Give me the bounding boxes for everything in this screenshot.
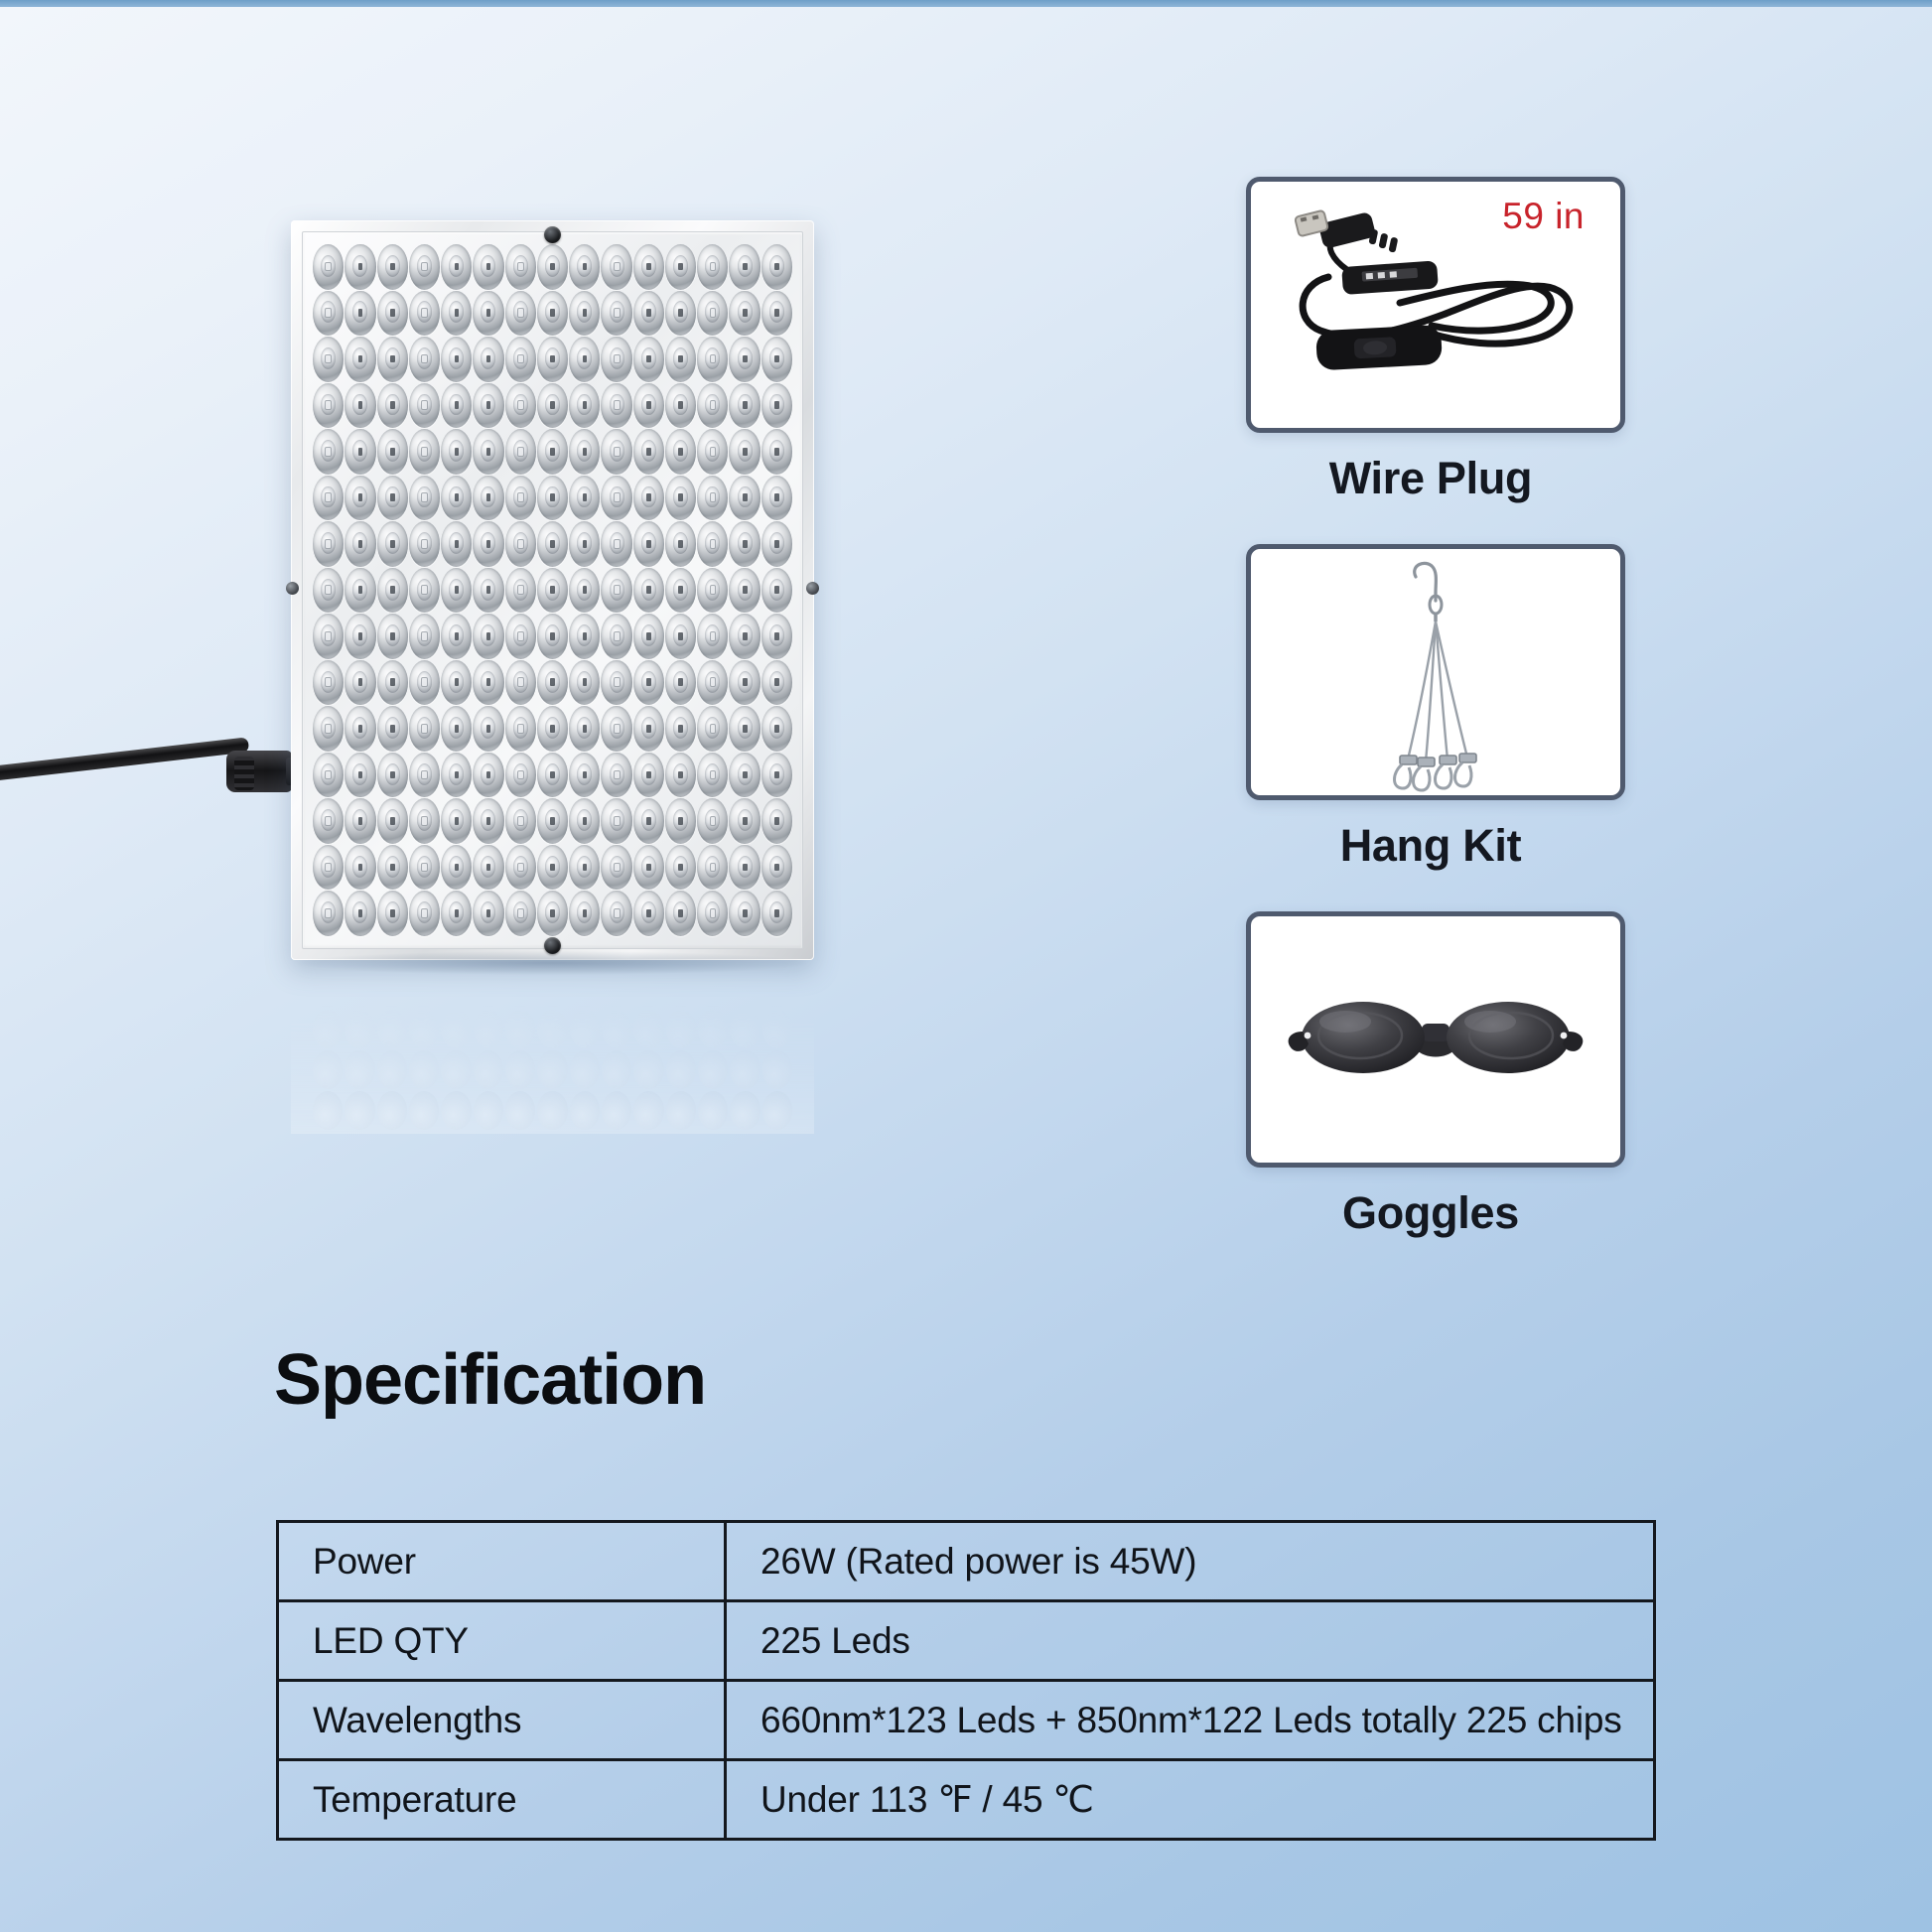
led-cell	[569, 244, 600, 290]
led-cell	[697, 337, 728, 382]
led-cell	[697, 291, 728, 337]
led-cell	[729, 429, 759, 475]
led-cell	[665, 660, 696, 706]
led-cell	[441, 845, 472, 891]
led-cell	[409, 614, 440, 659]
led-cell	[665, 798, 696, 844]
led-cell	[377, 337, 408, 382]
led-cell	[633, 337, 664, 382]
led-cell	[505, 521, 536, 567]
led-cell	[761, 706, 792, 752]
led-cell	[377, 660, 408, 706]
led-cell	[313, 891, 344, 936]
led-reflection-cell	[345, 1010, 374, 1048]
led-cell	[601, 753, 631, 798]
led-cell	[537, 244, 568, 290]
led-cell	[505, 383, 536, 429]
led-reflection-cell	[730, 1091, 759, 1130]
led-cell	[377, 291, 408, 337]
led-cell	[377, 476, 408, 521]
led-cell	[761, 845, 792, 891]
led-cell	[601, 521, 631, 567]
led-reflection-cell	[441, 969, 471, 1008]
side-screw-left-icon	[286, 582, 299, 595]
led-cell	[473, 429, 503, 475]
led-cell	[409, 429, 440, 475]
led-cell	[441, 244, 472, 290]
led-cell	[409, 291, 440, 337]
led-cell	[729, 753, 759, 798]
led-cell	[345, 291, 375, 337]
led-cell	[633, 521, 664, 567]
led-cell	[537, 521, 568, 567]
led-cell	[729, 568, 759, 614]
led-cell	[665, 614, 696, 659]
led-cell	[665, 568, 696, 614]
led-cell	[697, 753, 728, 798]
led-cell	[569, 798, 600, 844]
led-cell	[473, 798, 503, 844]
led-cell	[345, 614, 375, 659]
led-cell	[441, 660, 472, 706]
led-reflection-cell	[602, 1010, 631, 1048]
page-title: Specification	[274, 1339, 706, 1421]
table-row: Temperature Under 113 ℉ / 45 ℃	[278, 1760, 1655, 1840]
table-row: Wavelengths 660nm*123 Leds + 850nm*122 L…	[278, 1681, 1655, 1760]
led-cell	[377, 798, 408, 844]
led-cell	[601, 429, 631, 475]
led-reflection-cell	[666, 1010, 696, 1048]
led-cell	[441, 568, 472, 614]
led-cell	[729, 244, 759, 290]
led-cell	[633, 845, 664, 891]
led-cell	[601, 568, 631, 614]
led-cell	[409, 244, 440, 290]
spec-value: 225 Leds	[726, 1601, 1655, 1681]
led-cell	[665, 706, 696, 752]
led-cell	[729, 291, 759, 337]
led-cell	[313, 798, 344, 844]
led-cell	[409, 706, 440, 752]
led-cell	[761, 753, 792, 798]
led-cell	[569, 476, 600, 521]
led-reflection-cell	[409, 1091, 439, 1130]
led-cell	[409, 845, 440, 891]
led-cell	[473, 845, 503, 891]
led-cell	[313, 476, 344, 521]
led-cell	[409, 660, 440, 706]
led-cell	[409, 521, 440, 567]
led-cell	[441, 614, 472, 659]
led-cell	[377, 429, 408, 475]
accessory-caption-hang-kit: Hang Kit	[1246, 820, 1615, 872]
led-cell	[473, 660, 503, 706]
led-cell	[761, 798, 792, 844]
led-reflection-cell	[698, 1050, 728, 1089]
led-cell	[505, 291, 536, 337]
spec-label: Wavelengths	[278, 1681, 726, 1760]
led-cell	[665, 521, 696, 567]
led-cell	[345, 753, 375, 798]
led-reflection-cell	[698, 1010, 728, 1048]
led-reflection-cell	[570, 1010, 600, 1048]
led-cell	[473, 706, 503, 752]
led-reflection-cell	[505, 1050, 535, 1089]
led-cell	[345, 845, 375, 891]
led-cell	[601, 476, 631, 521]
led-cell	[697, 706, 728, 752]
led-reflection-cell	[730, 969, 759, 1008]
led-reflection-cell	[602, 969, 631, 1008]
led-cell	[729, 798, 759, 844]
led-cell	[505, 337, 536, 382]
led-cell	[601, 244, 631, 290]
led-cell	[697, 614, 728, 659]
led-reflection-cell	[762, 969, 792, 1008]
led-reflection-cell	[441, 1050, 471, 1089]
led-cell	[633, 383, 664, 429]
led-reflection-cell	[730, 1010, 759, 1048]
led-cell	[729, 845, 759, 891]
led-reflection-cell	[474, 1050, 503, 1089]
led-cell	[569, 383, 600, 429]
led-cell	[441, 337, 472, 382]
led-cell	[313, 521, 344, 567]
led-cell	[569, 614, 600, 659]
led-cell	[665, 337, 696, 382]
led-cell	[537, 706, 568, 752]
led-cell	[537, 337, 568, 382]
led-cell	[505, 660, 536, 706]
led-reflection-cell	[537, 1050, 567, 1089]
led-cell	[665, 476, 696, 521]
led-reflection-cell	[377, 1091, 407, 1130]
led-cell	[569, 291, 600, 337]
led-cell	[633, 614, 664, 659]
led-reflection-cell	[409, 1010, 439, 1048]
led-cell	[377, 891, 408, 936]
led-cell	[729, 476, 759, 521]
led-cell	[601, 614, 631, 659]
led-cell	[697, 845, 728, 891]
led-reflection-cell	[409, 1050, 439, 1089]
led-cell	[377, 521, 408, 567]
led-cell	[345, 798, 375, 844]
led-cell	[473, 383, 503, 429]
safety-goggles-icon	[1251, 916, 1620, 1163]
led-cell	[345, 337, 375, 382]
led-cell	[313, 244, 344, 290]
led-cell	[313, 753, 344, 798]
led-reflection-cell	[377, 969, 407, 1008]
led-cell	[505, 845, 536, 891]
led-cell	[601, 291, 631, 337]
led-cell	[569, 706, 600, 752]
led-cell	[729, 660, 759, 706]
led-cell	[537, 568, 568, 614]
led-cell	[601, 337, 631, 382]
led-cell	[665, 429, 696, 475]
led-reflection-cell	[313, 1091, 343, 1130]
led-cell	[473, 476, 503, 521]
led-cell	[377, 845, 408, 891]
led-cell	[441, 753, 472, 798]
led-cell	[601, 891, 631, 936]
led-reflection-cell	[666, 1050, 696, 1089]
led-reflection-cell	[345, 1050, 374, 1089]
led-cell	[697, 244, 728, 290]
led-cell	[473, 568, 503, 614]
led-reflection-cell	[570, 1091, 600, 1130]
led-cell	[377, 706, 408, 752]
led-cell	[761, 429, 792, 475]
led-cell	[377, 244, 408, 290]
led-cell	[761, 660, 792, 706]
led-cell	[633, 291, 664, 337]
led-cell	[537, 614, 568, 659]
led-cell	[441, 891, 472, 936]
led-cell	[473, 521, 503, 567]
led-cell	[697, 383, 728, 429]
led-cell	[761, 244, 792, 290]
led-cell	[409, 753, 440, 798]
led-cell	[633, 753, 664, 798]
led-cell	[505, 753, 536, 798]
led-cell	[473, 891, 503, 936]
led-cell	[761, 476, 792, 521]
led-reflection-cell	[762, 1091, 792, 1130]
led-cell	[697, 660, 728, 706]
led-cell	[313, 660, 344, 706]
led-reflection-cell	[474, 1091, 503, 1130]
led-cell	[441, 476, 472, 521]
led-cell	[537, 891, 568, 936]
led-cell	[761, 521, 792, 567]
led-reflection-cell	[633, 1050, 663, 1089]
led-cell	[729, 891, 759, 936]
led-cell	[345, 476, 375, 521]
led-reflection-cell	[730, 1050, 759, 1089]
led-cell	[633, 660, 664, 706]
led-cell	[441, 798, 472, 844]
spec-value: 26W (Rated power is 45W)	[726, 1522, 1655, 1601]
spec-label: LED QTY	[278, 1601, 726, 1681]
led-cell	[761, 383, 792, 429]
led-cell	[441, 706, 472, 752]
led-cell	[441, 383, 472, 429]
led-cell	[569, 891, 600, 936]
led-reflection-cell	[666, 1091, 696, 1130]
led-cell	[313, 706, 344, 752]
led-cell	[409, 476, 440, 521]
led-cell	[377, 753, 408, 798]
led-cell	[537, 429, 568, 475]
led-cell	[729, 706, 759, 752]
led-reflection-cell	[762, 1050, 792, 1089]
spec-value: 660nm*123 Leds + 850nm*122 Leds totally …	[726, 1681, 1655, 1760]
led-cell	[537, 476, 568, 521]
led-cell	[441, 521, 472, 567]
accessory-caption-goggles: Goggles	[1246, 1187, 1615, 1239]
led-cell	[729, 383, 759, 429]
led-cell	[537, 291, 568, 337]
accessory-card-goggles[interactable]	[1246, 911, 1625, 1168]
led-cell	[633, 244, 664, 290]
led-cell	[729, 614, 759, 659]
led-cell	[345, 660, 375, 706]
led-cell	[345, 244, 375, 290]
led-reflection-cell	[441, 1010, 471, 1048]
led-cell	[537, 753, 568, 798]
led-cell	[409, 891, 440, 936]
led-reflection-cell	[633, 1091, 663, 1130]
led-cell	[665, 891, 696, 936]
led-reflection-cell	[505, 969, 535, 1008]
led-cell	[569, 660, 600, 706]
led-cell	[409, 337, 440, 382]
led-reflection-cell	[698, 1091, 728, 1130]
led-cell	[537, 660, 568, 706]
led-reflection-cell	[345, 1091, 374, 1130]
led-cell	[761, 891, 792, 936]
spec-label: Temperature	[278, 1760, 726, 1840]
led-cell	[473, 244, 503, 290]
power-cord-icon	[1251, 182, 1620, 428]
led-cell	[473, 753, 503, 798]
led-cell	[537, 383, 568, 429]
led-cell	[601, 383, 631, 429]
led-cell	[473, 614, 503, 659]
led-cell	[569, 845, 600, 891]
led-array	[313, 244, 792, 936]
led-reflection-cell	[474, 1010, 503, 1048]
led-cell	[601, 706, 631, 752]
led-reflection-cell	[698, 969, 728, 1008]
led-reflection-cell	[377, 1010, 407, 1048]
led-cell	[313, 291, 344, 337]
led-cell	[409, 798, 440, 844]
led-reflection-cell	[633, 1010, 663, 1048]
led-cell	[633, 476, 664, 521]
led-reflection-cell	[313, 1010, 343, 1048]
led-reflection-cell	[313, 1050, 343, 1089]
led-cell	[313, 614, 344, 659]
led-cell	[633, 568, 664, 614]
led-cell	[569, 521, 600, 567]
led-reflection-cell	[537, 1091, 567, 1130]
led-cell	[569, 568, 600, 614]
power-cord-icon	[0, 753, 308, 798]
led-cell	[761, 614, 792, 659]
led-cell	[345, 706, 375, 752]
spec-value: Under 113 ℉ / 45 ℃	[726, 1760, 1655, 1840]
product-image-led-panel	[0, 0, 973, 1172]
led-cell	[313, 429, 344, 475]
led-reflection-cell	[313, 969, 343, 1008]
led-reflection-cell	[345, 969, 374, 1008]
led-reflection-cell	[505, 1091, 535, 1130]
led-reflection-cell	[633, 969, 663, 1008]
led-cell	[505, 706, 536, 752]
led-cell	[697, 429, 728, 475]
led-cell	[761, 568, 792, 614]
led-reflection-cell	[762, 1010, 792, 1048]
led-cell	[409, 383, 440, 429]
led-cell	[665, 291, 696, 337]
led-cell	[505, 244, 536, 290]
panel-reflection	[291, 965, 814, 1134]
led-cell	[377, 383, 408, 429]
accessory-caption-wire-plug: Wire Plug	[1246, 453, 1615, 504]
led-reflection-cell	[474, 969, 503, 1008]
table-row: LED QTY 225 Leds	[278, 1601, 1655, 1681]
led-cell	[345, 383, 375, 429]
accessory-card-hang-kit[interactable]	[1246, 544, 1625, 800]
led-reflection-cell	[666, 969, 696, 1008]
led-reflection-cell	[441, 1091, 471, 1130]
led-panel-body	[291, 220, 814, 960]
led-cell	[505, 429, 536, 475]
led-cell	[313, 337, 344, 382]
led-cell	[697, 521, 728, 567]
led-cell	[505, 891, 536, 936]
led-cell	[569, 429, 600, 475]
led-cell	[697, 476, 728, 521]
accessory-card-wire-plug[interactable]: 59 in	[1246, 177, 1625, 433]
led-cell	[601, 798, 631, 844]
led-cell	[377, 614, 408, 659]
led-cell	[377, 568, 408, 614]
led-cell	[761, 337, 792, 382]
led-reflection-cell	[505, 1010, 535, 1048]
led-cell	[729, 521, 759, 567]
led-cell	[409, 568, 440, 614]
led-reflection-cell	[537, 1010, 567, 1048]
table-row: Power 26W (Rated power is 45W)	[278, 1522, 1655, 1601]
led-reflection-cell	[377, 1050, 407, 1089]
led-cell	[697, 798, 728, 844]
led-cell	[441, 429, 472, 475]
led-cell	[313, 845, 344, 891]
led-cell	[345, 429, 375, 475]
led-cell	[345, 521, 375, 567]
led-reflection-cell	[570, 1050, 600, 1089]
led-cell	[505, 614, 536, 659]
led-cell	[473, 291, 503, 337]
led-cell	[633, 891, 664, 936]
led-cell	[313, 568, 344, 614]
led-reflection-cell	[602, 1091, 631, 1130]
side-screw-right-icon	[806, 582, 819, 595]
spec-label: Power	[278, 1522, 726, 1601]
led-cell	[665, 845, 696, 891]
led-reflection-cell	[537, 969, 567, 1008]
led-cell	[633, 798, 664, 844]
led-cell	[697, 891, 728, 936]
led-cell	[665, 244, 696, 290]
mounting-hole-top-icon	[544, 226, 561, 243]
led-cell	[665, 383, 696, 429]
led-cell	[601, 845, 631, 891]
led-reflection-cell	[602, 1050, 631, 1089]
led-cell	[345, 891, 375, 936]
led-cell	[537, 845, 568, 891]
led-cell	[729, 337, 759, 382]
led-cell	[345, 568, 375, 614]
led-reflection-cell	[570, 969, 600, 1008]
led-cell	[569, 753, 600, 798]
led-cell	[505, 568, 536, 614]
